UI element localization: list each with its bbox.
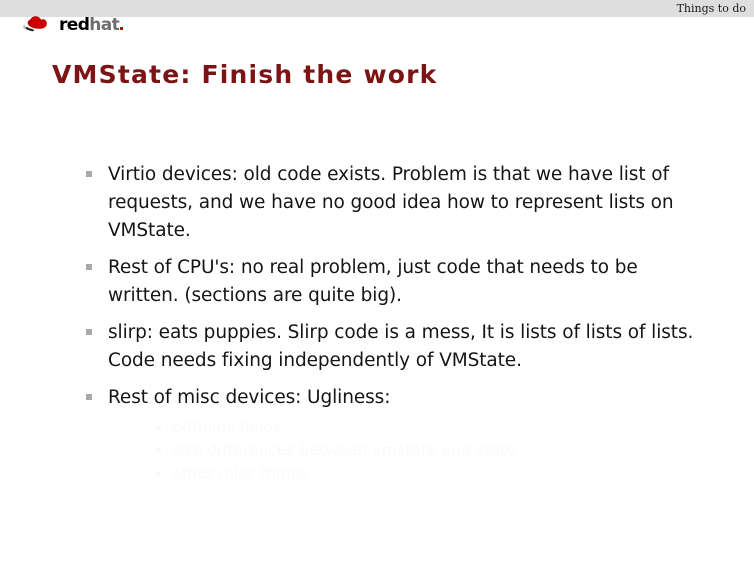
- sub-list-item: size differences between vmstate and sta…: [156, 439, 700, 462]
- square-subbullet-icon: [156, 448, 161, 453]
- logo-word-hat: hat: [89, 15, 119, 35]
- list-item: Virtio devices: old code exists. Problem…: [86, 161, 700, 245]
- sub-list-item-text: other misc things: [172, 464, 309, 482]
- sub-list-item: bitfields fields: [156, 416, 700, 439]
- logo-dot: [120, 27, 123, 30]
- list-item-text: Rest of misc devices: Ugliness:: [108, 387, 390, 408]
- slide-content: Virtio devices: old code exists. Problem…: [86, 161, 700, 494]
- square-bullet-icon: [86, 394, 92, 400]
- sub-list-item: other misc things: [156, 462, 700, 485]
- square-bullet-icon: [86, 171, 92, 177]
- page-title: VMState: Finish the work: [52, 60, 438, 89]
- square-bullet-icon: [86, 264, 92, 270]
- list-item: slirp: eats puppies. Slirp code is a mes…: [86, 319, 700, 375]
- sub-list-item-text: size differences between vmstate and sta…: [172, 441, 516, 459]
- square-subbullet-icon: [156, 425, 161, 430]
- list-item-text: slirp: eats puppies. Slirp code is a mes…: [108, 322, 693, 371]
- square-subbullet-icon: [156, 471, 161, 476]
- logo-word-red: red: [59, 15, 89, 35]
- list-item-text: Virtio devices: old code exists. Problem…: [108, 164, 674, 241]
- sub-list-item-text: bitfields fields: [172, 418, 282, 436]
- redhat-logo: redhat: [22, 13, 123, 37]
- list-item: Rest of CPU's: no real problem, just cod…: [86, 254, 700, 310]
- square-bullet-icon: [86, 329, 92, 335]
- list-item-text: Rest of CPU's: no real problem, just cod…: [108, 257, 638, 306]
- logo-wordmark: redhat: [59, 17, 123, 34]
- redhat-shadowman-icon: [22, 14, 62, 36]
- section-title: Things to do: [677, 0, 746, 17]
- sub-list: bitfields fields size differences betwee…: [108, 416, 700, 485]
- list-item: Rest of misc devices: Ugliness: bitfield…: [86, 384, 700, 485]
